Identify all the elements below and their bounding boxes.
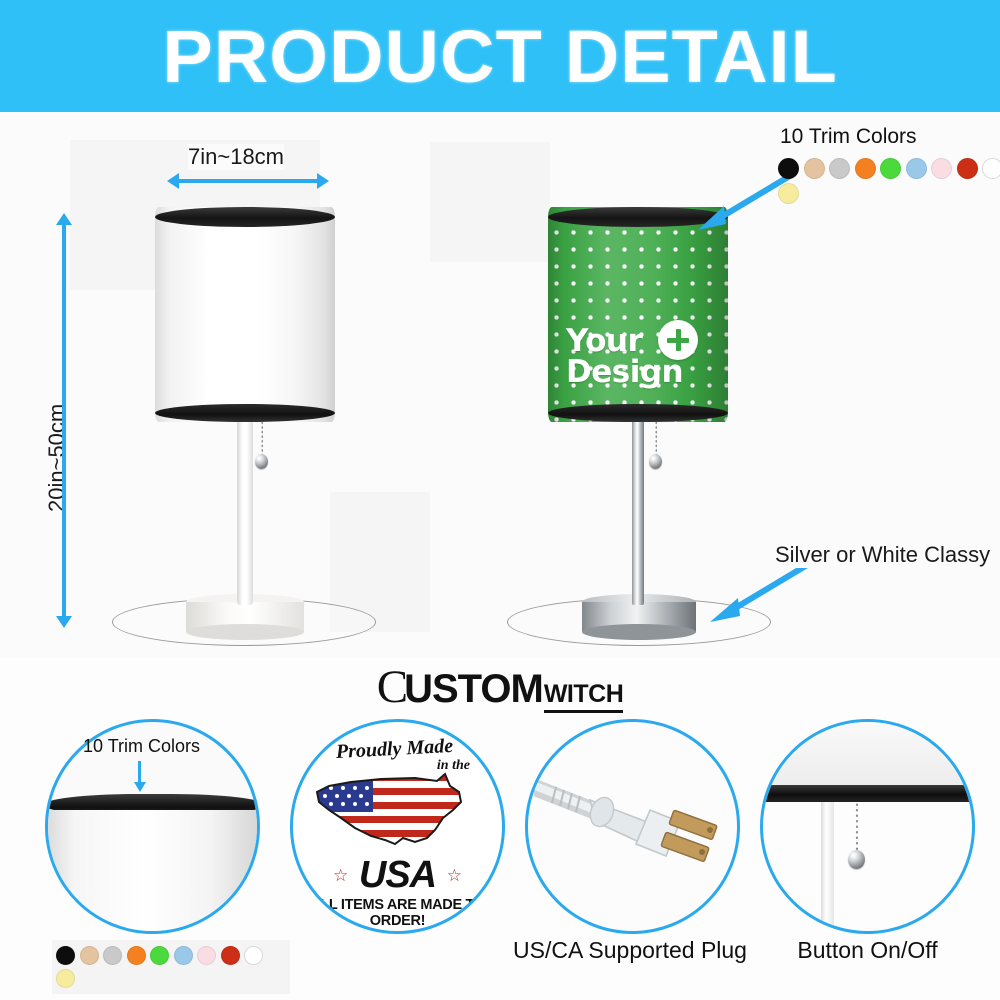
trim-color-swatch-orange[interactable] (127, 946, 146, 965)
pull-chain (261, 416, 263, 458)
trim-color-swatch-white[interactable] (982, 158, 1000, 179)
trim-colors-title: 10 Trim Colors (780, 125, 1000, 149)
switch-closeup-shade (760, 719, 975, 790)
trim-color-swatch-yellow[interactable] (778, 183, 799, 204)
trim-colors-mini-arrow (138, 761, 141, 783)
switch-closeup-pole (821, 802, 834, 932)
usa-map-flag-icon (311, 766, 471, 854)
trim-color-swatch-red[interactable] (221, 946, 240, 965)
plug-feature-caption: US/CA Supported Plug (500, 937, 760, 964)
trim-color-swatch-black[interactable] (56, 946, 75, 965)
pull-chain (655, 416, 657, 458)
logo-secondary-text: WITCH (544, 680, 623, 713)
plug-feature: US/CA Supported Plug (525, 719, 740, 974)
lamp-shade: Your Design (548, 207, 728, 422)
feature-circle (760, 719, 975, 934)
pull-chain-ball (649, 454, 662, 469)
base-bottom (186, 624, 304, 640)
trim-closeup-shade (45, 810, 260, 934)
usa-star-left-icon: ☆ (333, 866, 348, 886)
shade-trim-top (155, 207, 335, 227)
trim-color-swatch-pink[interactable] (197, 946, 216, 965)
usa-star-right-icon: ☆ (447, 866, 462, 886)
usa-subtitle: ALL ITEMS ARE MADE TO ORDER! (293, 897, 502, 929)
add-design-plus-icon[interactable] (658, 320, 698, 360)
usa-word: USA (293, 854, 502, 897)
trim-color-swatch-tan[interactable] (804, 158, 825, 179)
trim-color-swatch-green[interactable] (880, 158, 901, 179)
design-line-2: Design (566, 357, 683, 388)
bottom-trim-color-swatches (52, 940, 290, 994)
trim-color-swatch-red[interactable] (957, 158, 978, 179)
base-bottom (582, 624, 696, 640)
logo-primary-text: USTOM (404, 667, 543, 712)
trim-color-swatch-yellow[interactable] (56, 969, 75, 988)
trim-color-swatch-tan[interactable] (80, 946, 99, 965)
lamp-pole (632, 417, 644, 605)
trim-color-swatch-gray[interactable] (829, 158, 850, 179)
base-finish-callout-label: Silver or White Classy (775, 542, 990, 568)
feature-circle (525, 719, 740, 934)
switch-feature-caption: Button On/Off (740, 937, 995, 964)
usa-badge: Proudly Made in the (293, 722, 502, 931)
shade-surface: Your Design (548, 207, 728, 422)
pull-chain-ball (255, 454, 268, 469)
lamp-shade (155, 207, 335, 422)
trim-colors-feature: 10 Trim Colors (45, 719, 260, 934)
shade-surface (155, 207, 335, 422)
trim-color-swatch-gray[interactable] (103, 946, 122, 965)
trim-colors-panel: 10 Trim Colors (778, 125, 1000, 204)
switch-feature: Button On/Off (760, 719, 975, 974)
logo-c-mark: C (377, 664, 406, 711)
feature-circle: Proudly Made in the (290, 719, 505, 934)
shade-trim-bottom (155, 404, 335, 422)
trim-color-swatch-light-blue[interactable] (174, 946, 193, 965)
height-dimension-arrow (62, 224, 66, 617)
lamp-pole (237, 417, 253, 605)
page-title: PRODUCT DETAIL (162, 14, 837, 99)
trim-color-swatch-row (778, 158, 1000, 204)
brand-logo: C USTOM WITCH (0, 657, 1000, 719)
switch-pull-chain (855, 802, 858, 854)
trim-colors-mini-label: 10 Trim Colors (83, 736, 200, 757)
trim-color-swatch-green[interactable] (150, 946, 169, 965)
white-lamp (120, 112, 400, 657)
shade-trim-bottom (548, 404, 728, 422)
switch-pull-chain-ball (848, 850, 865, 869)
height-dimension-label: 20in~50cm (44, 404, 70, 512)
trim-color-swatch-pink[interactable] (931, 158, 952, 179)
trim-color-swatch-white[interactable] (244, 946, 263, 965)
product-detail-page: PRODUCT DETAIL 20in~50cm 7in~18cm (0, 0, 1000, 1000)
page-banner: PRODUCT DETAIL (0, 0, 1000, 112)
made-in-usa-feature: Proudly Made in the (290, 719, 505, 934)
switch-closeup-trim (760, 785, 975, 802)
trim-color-swatch-black[interactable] (778, 158, 799, 179)
power-plug-icon (534, 770, 734, 888)
trim-color-swatch-orange[interactable] (855, 158, 876, 179)
trim-color-swatch-light-blue[interactable] (906, 158, 927, 179)
